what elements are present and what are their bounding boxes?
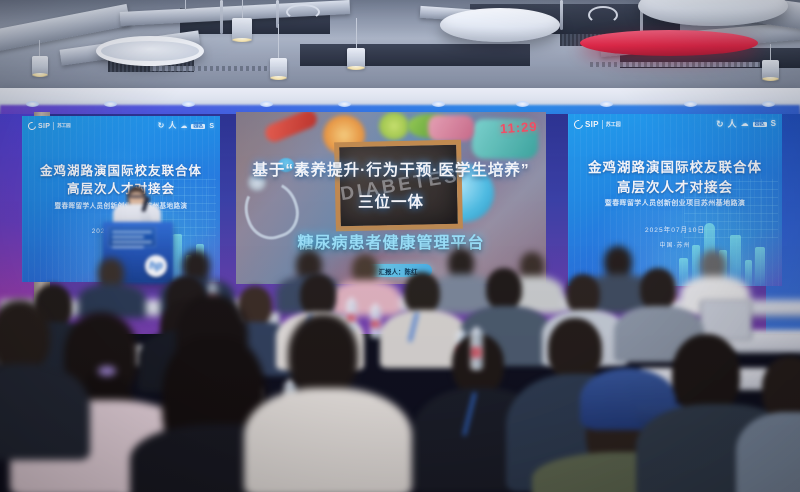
swirl-icon: ↻	[158, 122, 165, 130]
runner-icon: 人	[168, 122, 176, 130]
sip-logo-icon: SIP	[574, 120, 599, 129]
cloud-icon: ☁	[180, 123, 187, 130]
left-screen-title-line2: 高层次人才对接会	[22, 178, 220, 197]
right-led-screen[interactable]: SIP 苏工园 ↻ 人 ☁ 园区 S 金鸡湖路演国际校友联合体 高层次人才对接会…	[568, 114, 782, 286]
cylinder-pendant-icon	[762, 60, 779, 79]
water-bottle	[370, 306, 381, 338]
park-logo-icon: 苏工园	[606, 121, 621, 128]
red-tube-prop	[262, 112, 319, 145]
right-screen-title-line1: 金鸡湖路演国际校友联合体	[568, 156, 782, 176]
runner-icon: 人	[728, 120, 737, 129]
cylinder-pendant-icon	[347, 48, 365, 68]
slide-title-line2: 三位一体	[236, 190, 546, 212]
spiral-icon: S	[209, 123, 214, 130]
red-disc-pendant-icon	[580, 30, 758, 56]
ring-downlight-icon	[96, 36, 204, 66]
white-disc-pendant-icon	[440, 8, 560, 42]
timer-badge: 11:29	[500, 119, 539, 137]
left-screen-logo-row: SIP 苏工园 ↻ 人 ☁ 园区 S	[28, 121, 214, 131]
podium-signage	[108, 227, 156, 247]
cylinder-pendant-icon	[32, 56, 48, 75]
cylinder-pendant-icon	[232, 18, 252, 40]
cloud-icon: ☁	[741, 120, 749, 128]
square-icon: 园区	[191, 124, 205, 129]
pink-cloth-prop	[428, 115, 474, 141]
slide-title-line3: 糖尿病患者健康管理平台	[236, 229, 546, 253]
hp-logo-icon: hp	[145, 255, 167, 277]
square-icon: 园区	[753, 122, 767, 127]
left-screen-title-line1: 金鸡湖路演国际校友联合体	[22, 160, 220, 179]
glasses-icon	[129, 195, 144, 198]
water-bottle	[470, 330, 483, 370]
right-screen-subtitle: 暨春晖留学人员创新创业项目苏州基地路演	[568, 198, 782, 208]
lime-prop	[379, 112, 409, 140]
sip-logo-icon: SIP	[28, 122, 50, 130]
right-screen-logo-row: SIP 苏工园 ↻ 人 ☁ 园区 S	[574, 119, 776, 129]
park-logo-icon: 苏工园	[57, 123, 71, 129]
chalkboard-prop: DIABETES	[334, 140, 463, 232]
exposed-ceiling	[0, 0, 800, 96]
slide-title-line1: 基于“素养提升·行为干预·医学生培养”	[236, 158, 546, 180]
conference-hall-photo: SIP 苏工园 ↻ 人 ☁ 园区 S 金鸡湖路演国际校友联合体 高层次人才对接会…	[0, 0, 800, 492]
right-screen-title-line2: 高层次人才对接会	[568, 176, 782, 196]
swirl-icon: ↻	[716, 120, 724, 129]
cylinder-pendant-icon	[270, 58, 287, 78]
spiral-icon: S	[771, 120, 776, 128]
center-presentation-screen[interactable]: DIABETES 11:29 基于“素养提升·行为干预·医学生培养” 三位一体 …	[236, 112, 546, 284]
